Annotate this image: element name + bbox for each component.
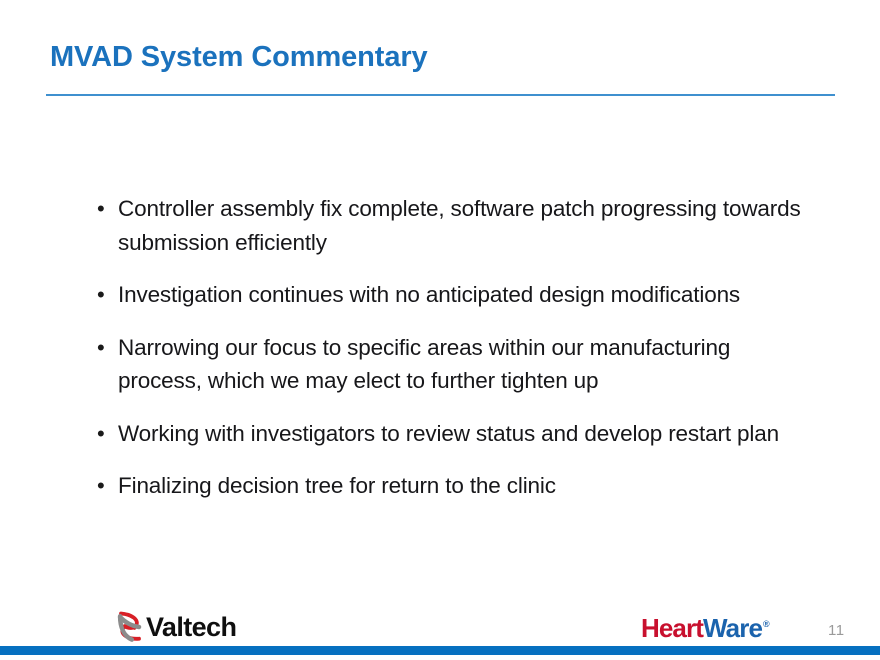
bullet-point-icon: • (97, 278, 117, 312)
list-item-text: Investigation continues with no anticipa… (118, 278, 810, 312)
list-item: • Narrowing our focus to specific areas … (0, 331, 880, 398)
bullet-point-icon: • (97, 469, 117, 503)
page-title: MVAD System Commentary (50, 36, 428, 78)
bullet-point-icon: • (97, 417, 117, 451)
valtech-logo: Valtech (112, 608, 236, 646)
slide: MVAD System Commentary • Controller asse… (0, 0, 880, 660)
title-divider (46, 94, 835, 96)
heartware-wordmark-heart: Heart (641, 615, 703, 641)
footer-accent-bar (0, 646, 880, 655)
heartware-logo: HeartWare® (641, 615, 769, 641)
list-item: • Investigation continues with no antici… (0, 278, 880, 312)
bullet-list: • Controller assembly fix complete, soft… (0, 192, 880, 503)
list-item-text: Narrowing our focus to specific areas wi… (118, 331, 810, 398)
list-item-text: Working with investigators to review sta… (118, 417, 810, 451)
page-number: 11 (828, 623, 845, 638)
title-area: MVAD System Commentary (0, 36, 880, 98)
list-item: • Working with investigators to review s… (0, 417, 880, 451)
bullet-point-icon: • (97, 331, 117, 365)
registered-trademark-icon: ® (763, 620, 769, 629)
valtech-swirl-icon (112, 609, 148, 645)
heartware-wordmark-ware: Ware (703, 615, 762, 641)
list-item-text: Finalizing decision tree for return to t… (118, 469, 810, 503)
list-item: • Controller assembly fix complete, soft… (0, 192, 880, 259)
list-item-text: Controller assembly fix complete, softwa… (118, 192, 810, 259)
list-item: • Finalizing decision tree for return to… (0, 469, 880, 503)
bullet-point-icon: • (97, 192, 117, 226)
valtech-wordmark: Valtech (146, 614, 236, 641)
